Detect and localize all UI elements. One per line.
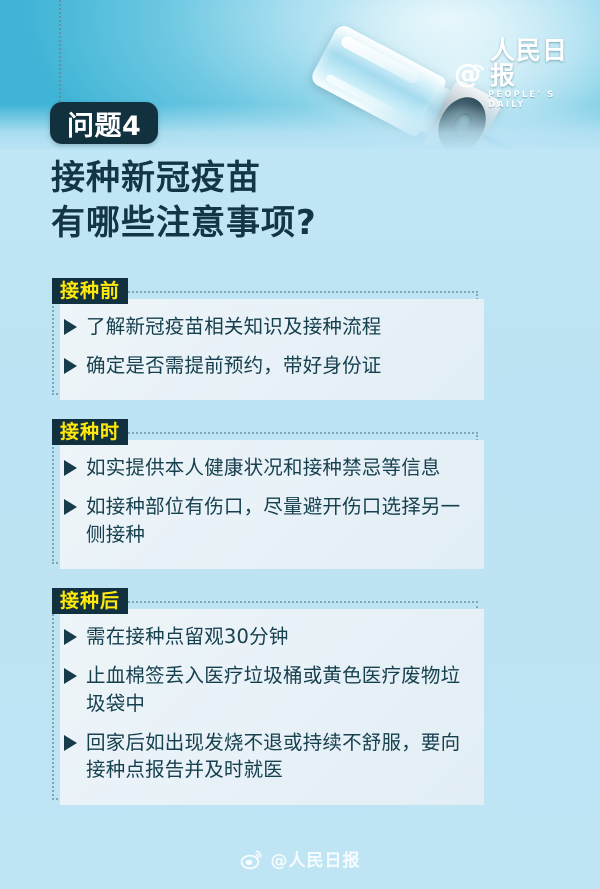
- list-item-text: 止血棉签丢入医疗垃圾桶或黄色医疗废物垃圾袋中: [86, 662, 462, 717]
- list-item-text: 如接种部位有伤口，尽量避开伤口选择另一侧接种: [86, 493, 462, 548]
- list-item: 了解新冠疫苗相关知识及接种流程: [64, 313, 462, 341]
- list-item: 如接种部位有伤口，尽量避开伤口选择另一侧接种: [64, 493, 462, 548]
- list-item: 如实提供本人健康状况和接种禁忌等信息: [64, 454, 462, 482]
- weibo-icon: [240, 847, 264, 871]
- section-panel: 如实提供本人健康状况和接种禁忌等信息 如接种部位有伤口，尽量避开伤口选择另一侧接…: [52, 432, 478, 564]
- triangle-bullet-icon: [64, 319, 77, 335]
- list-item-text: 回家后如出现发烧不退或持续不舒服，要向接种点报告并及时就医: [86, 729, 462, 784]
- triangle-bullet-icon: [64, 629, 77, 645]
- list-item: 确定是否需提前预约，带好身份证: [64, 352, 462, 380]
- section-tag: 接种时: [52, 419, 128, 445]
- section-item-list: 需在接种点留观30分钟 止血棉签丢入医疗垃圾桶或黄色医疗废物垃圾袋中 回家后如出…: [54, 603, 476, 797]
- poster-root: 0.5 1.5 @ 人民日报 PEOPLE' S DAILY 问题4 接种新冠: [0, 0, 600, 889]
- section-tag: 接种后: [52, 588, 128, 614]
- dotted-guide-line: [59, 0, 61, 106]
- peoples-daily-logo: @ 人民日报 PEOPLE' S DAILY: [455, 38, 585, 84]
- question-number-badge: 问题4: [50, 102, 158, 144]
- list-item-text: 了解新冠疫苗相关知识及接种流程: [86, 313, 462, 341]
- triangle-bullet-icon: [64, 358, 77, 374]
- page-title-line-2: 有哪些注意事项?: [51, 201, 317, 246]
- list-item: 需在接种点留观30分钟: [64, 623, 462, 651]
- logo-brand-cn: 人民日报: [490, 38, 585, 88]
- at-signal-icon: @: [455, 58, 485, 88]
- section-after-vaccination: 接种后 需在接种点留观30分钟 止血棉签丢入医疗垃圾桶或黄色医疗废物垃圾袋中 回…: [0, 588, 600, 799]
- list-item-text: 需在接种点留观30分钟: [86, 623, 462, 651]
- triangle-bullet-icon: [64, 735, 77, 751]
- list-item: 止血棉签丢入医疗垃圾桶或黄色医疗废物垃圾袋中: [64, 662, 462, 717]
- footer-credit: @人民日报: [0, 846, 600, 871]
- section-tag: 接种前: [52, 278, 128, 304]
- section-item-list: 了解新冠疫苗相关知识及接种流程 确定是否需提前预约，带好身份证: [54, 293, 476, 393]
- section-during-vaccination: 接种时 如实提供本人健康状况和接种禁忌等信息 如接种部位有伤口，尽量避开伤口选择…: [0, 419, 600, 564]
- list-item-text: 如实提供本人健康状况和接种禁忌等信息: [86, 454, 462, 482]
- triangle-bullet-icon: [64, 460, 77, 476]
- page-title: 接种新冠疫苗 有哪些注意事项?: [51, 156, 317, 246]
- svg-text:@: @: [455, 59, 481, 88]
- sections-container: 接种前 了解新冠疫苗相关知识及接种流程 确定是否需提前预约，带好身份证 接种时: [0, 278, 600, 800]
- footer-handle: @人民日报: [271, 846, 361, 871]
- section-panel: 了解新冠疫苗相关知识及接种流程 确定是否需提前预约，带好身份证: [52, 291, 478, 395]
- page-title-line-1: 接种新冠疫苗: [51, 156, 317, 201]
- section-panel: 需在接种点留观30分钟 止血棉签丢入医疗垃圾桶或黄色医疗废物垃圾袋中 回家后如出…: [52, 601, 478, 799]
- triangle-bullet-icon: [64, 668, 77, 684]
- section-before-vaccination: 接种前 了解新冠疫苗相关知识及接种流程 确定是否需提前预约，带好身份证: [0, 278, 600, 395]
- list-item-text: 确定是否需提前预约，带好身份证: [86, 352, 462, 380]
- section-item-list: 如实提供本人健康状况和接种禁忌等信息 如接种部位有伤口，尽量避开伤口选择另一侧接…: [54, 434, 476, 562]
- list-item: 回家后如出现发烧不退或持续不舒服，要向接种点报告并及时就医: [64, 729, 462, 784]
- triangle-bullet-icon: [64, 499, 77, 515]
